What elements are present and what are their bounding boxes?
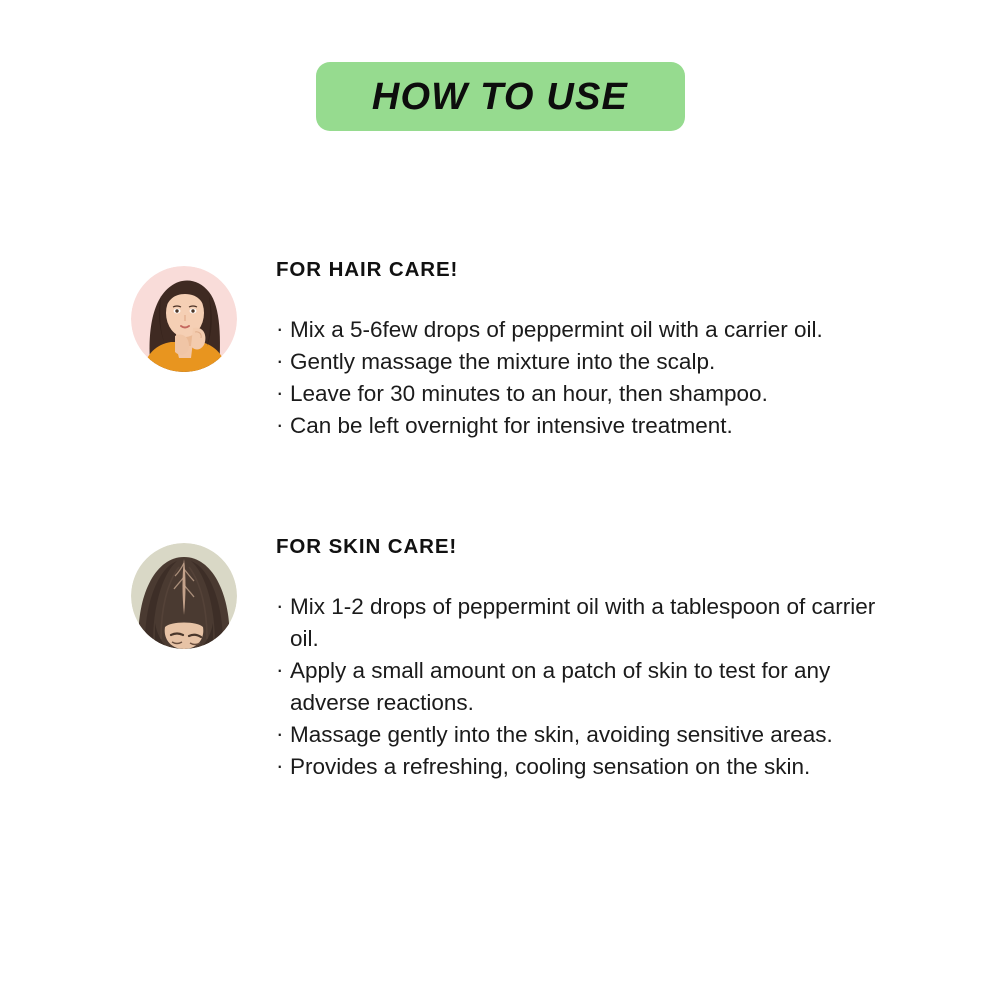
how-to-use-infographic: { "page": { "background_color": "#ffffff…	[0, 0, 1000, 1000]
list-item: Massage gently into the skin, avoiding s…	[276, 719, 890, 751]
list-item: Leave for 30 minutes to an hour, then sh…	[276, 378, 890, 410]
list-item: Mix 1-2 drops of peppermint oil with a t…	[276, 591, 890, 655]
list-item: Can be left overnight for intensive trea…	[276, 410, 890, 442]
hair-care-bullet-list: Mix a 5-6few drops of peppermint oil wit…	[276, 314, 1000, 442]
scalp-hair-parting-photo	[131, 543, 237, 649]
section-skin-care-heading: FOR SKIN CARE!	[276, 537, 1000, 558]
woman-portrait-photo	[131, 266, 237, 372]
section-hair-care: FOR HAIR CARE! Mix a 5-6few drops of pep…	[0, 260, 1000, 442]
how-to-use-badge: HOW TO USE	[316, 62, 685, 131]
page-title: HOW TO USE	[372, 78, 628, 116]
section-hair-care-heading: FOR HAIR CARE!	[276, 260, 1000, 281]
header: HOW TO USE	[0, 62, 1000, 131]
list-item: Gently massage the mixture into the scal…	[276, 346, 890, 378]
list-item: Apply a small amount on a patch of skin …	[276, 655, 890, 719]
section-skin-care: FOR SKIN CARE! Mix 1-2 drops of peppermi…	[0, 537, 1000, 783]
list-item: Provides a refreshing, cooling sensation…	[276, 751, 890, 783]
skin-care-bullet-list: Mix 1-2 drops of peppermint oil with a t…	[276, 591, 1000, 783]
list-item: Mix a 5-6few drops of peppermint oil wit…	[276, 314, 890, 346]
